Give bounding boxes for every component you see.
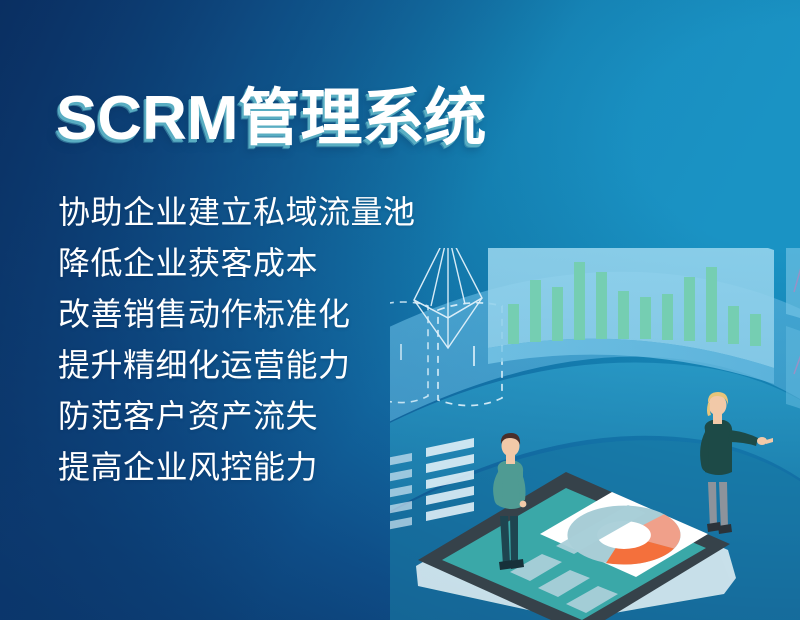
feature-item: 协助企业建立私域流量池: [58, 196, 488, 228]
page-title: SCRM管理系统: [56, 86, 487, 152]
feature-list: 协助企业建立私域流量池 降低企业获客成本 改善销售动作标准化 提升精细化运营能力…: [58, 196, 488, 483]
feature-item: 防范客户资产流失: [58, 400, 488, 432]
feature-item: 提高企业风控能力: [58, 451, 488, 483]
feature-item: 提升精细化运营能力: [58, 349, 488, 381]
scrm-promo-poster: SCRM管理系统 协助企业建立私域流量池 降低企业获客成本 改善销售动作标准化 …: [0, 0, 800, 620]
feature-item: 降低企业获客成本: [58, 247, 488, 279]
feature-item: 改善销售动作标准化: [58, 298, 488, 330]
